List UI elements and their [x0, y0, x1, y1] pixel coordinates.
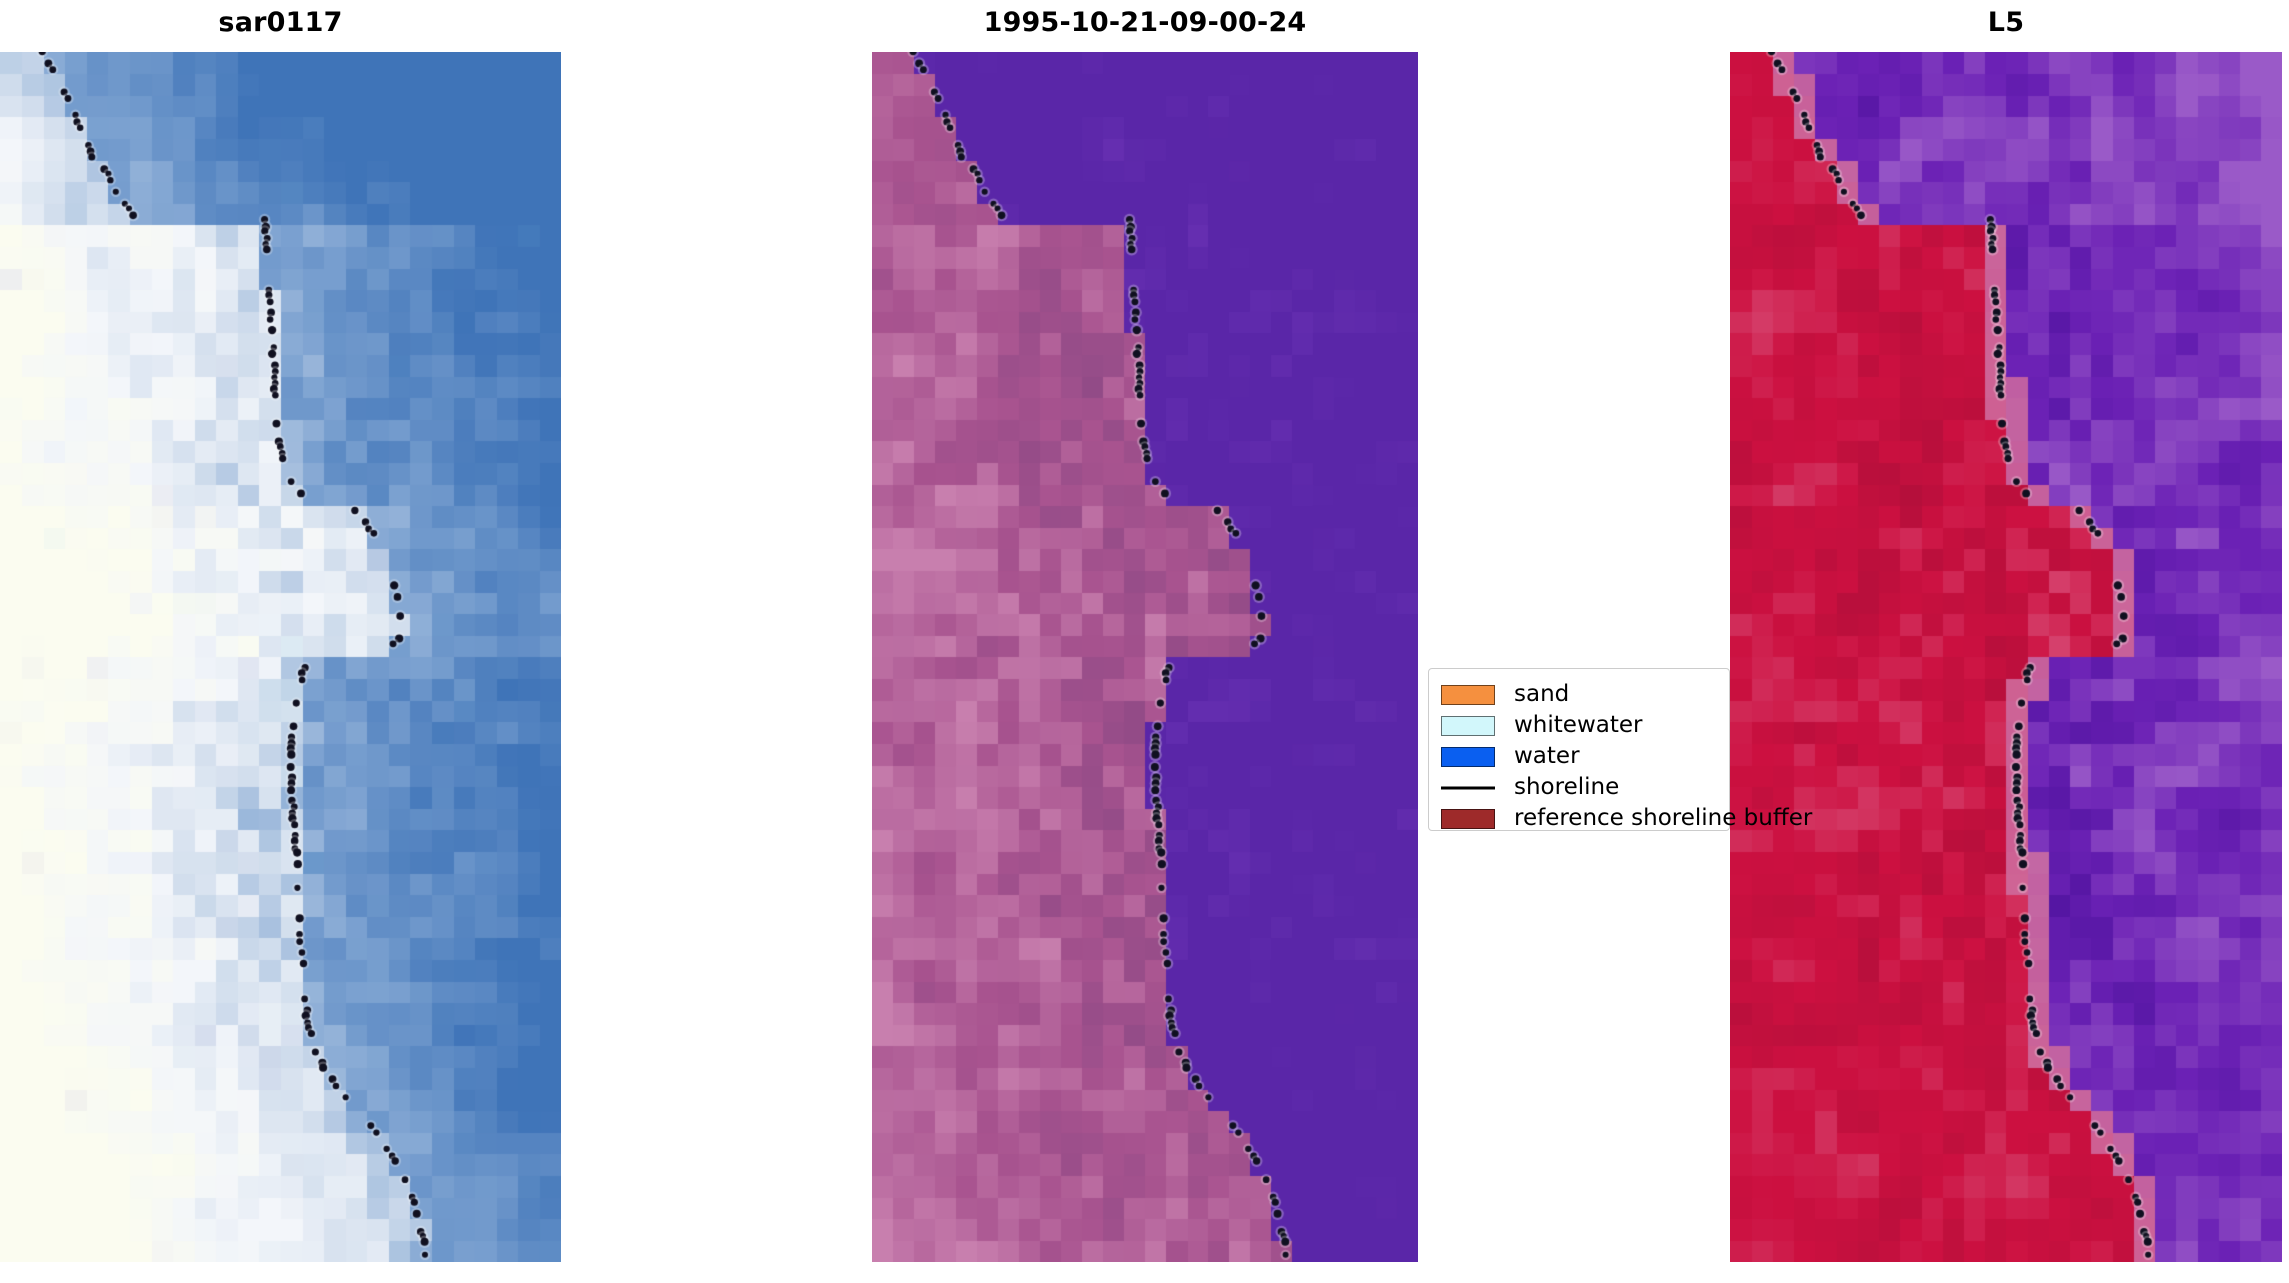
- legend-swatch-water: [1441, 747, 1495, 767]
- panel-title-classified: 1995-10-21-09-00-24: [872, 9, 1418, 36]
- satellite-image-canvas: [1730, 52, 2282, 1262]
- legend-item-shoreline[interactable]: shoreline: [1441, 772, 1717, 803]
- legend-box[interactable]: sand whitewater water shoreline referenc…: [1428, 668, 1730, 831]
- legend-item-reference-buffer[interactable]: reference shoreline buffer: [1441, 803, 1717, 834]
- panel-satellite-image[interactable]: [1730, 52, 2282, 1262]
- legend-item-sand[interactable]: sand: [1441, 679, 1717, 710]
- legend-label-whitewater: whitewater: [1514, 714, 1642, 737]
- legend-line-shoreline: [1441, 778, 1495, 798]
- legend-label-sand: sand: [1514, 683, 1569, 706]
- legend-item-whitewater[interactable]: whitewater: [1441, 710, 1717, 741]
- classified-image-canvas: [872, 52, 1418, 1262]
- legend-swatch-reference-buffer: [1441, 809, 1495, 829]
- sar-image-canvas: [0, 52, 561, 1262]
- panel-classified-image[interactable]: [872, 52, 1418, 1262]
- panel-title-satellite: L5: [1730, 9, 2282, 36]
- legend-swatch-whitewater: [1441, 716, 1495, 736]
- legend-label-shoreline: shoreline: [1514, 776, 1619, 799]
- legend-label-water: water: [1514, 745, 1580, 768]
- legend-swatch-sand: [1441, 685, 1495, 705]
- legend-item-water[interactable]: water: [1441, 741, 1717, 772]
- legend-label-reference-buffer: reference shoreline buffer: [1514, 807, 1812, 830]
- panel-title-sar: sar0117: [0, 9, 561, 36]
- panel-sar-image[interactable]: [0, 52, 561, 1262]
- figure-root: sar0117 1995-10-21-09-00-24 L5 sand whit…: [0, 0, 2289, 1283]
